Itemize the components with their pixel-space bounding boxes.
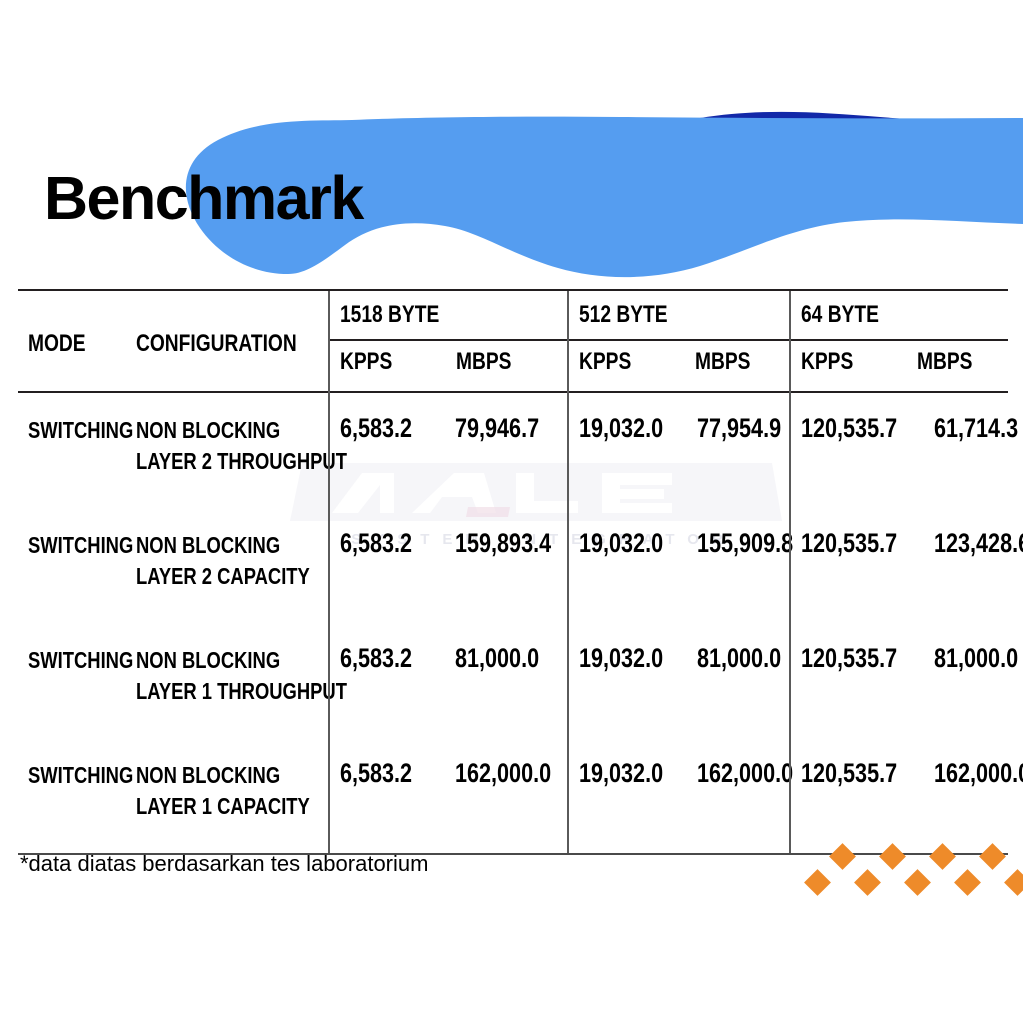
cell-64-mbps: 162,000.0 (934, 758, 1023, 789)
table-row: SWITCHING NON BLOCKING LAYER 1 THROUGHPU… (18, 623, 1008, 738)
footnote-text: *data diatas berdasarkan tes laboratoriu… (20, 851, 428, 877)
cell-64-kpps: 120,535.7 (801, 643, 921, 674)
group-underline (567, 339, 789, 341)
subheader-64-kpps: KPPS (801, 348, 866, 376)
cell-configuration: NON BLOCKING LAYER 2 CAPACITY (136, 530, 353, 591)
cell-64-kpps: 120,535.7 (801, 528, 921, 559)
column-group-1518-byte: 1518 BYTE KPPS MBPS (328, 291, 567, 391)
subheader-512-mbps: MBPS (695, 348, 764, 376)
cell-512-mbps: 77,954.9 (697, 413, 802, 444)
cell-64-mbps: 123,428.6 (934, 528, 1023, 559)
cell-1518-kpps: 6,583.2 (340, 413, 430, 444)
diamond-icon (954, 869, 981, 896)
cell-64-mbps: 81,000.0 (934, 643, 1023, 674)
benchmark-table: MODE CONFIGURATION 1518 BYTE KPPS MBPS 5… (18, 289, 1008, 855)
cell-64-kpps: 120,535.7 (801, 413, 921, 444)
diamond-icon (1004, 869, 1023, 896)
cell-512-kpps: 19,032.0 (579, 758, 684, 789)
group-underline (328, 339, 567, 341)
cell-1518-kpps: 6,583.2 (340, 758, 430, 789)
cell-512-mbps: 155,909.8 (697, 528, 817, 559)
diamond-icon (904, 869, 931, 896)
cell-1518-kpps: 6,583.2 (340, 643, 430, 674)
wave-decoration (0, 0, 1023, 290)
column-header-mode: MODE (28, 330, 100, 358)
column-group-64-byte: 64 BYTE KPPS MBPS (789, 291, 1008, 391)
cell-512-kpps: 19,032.0 (579, 413, 684, 444)
table-row: SWITCHING NON BLOCKING LAYER 1 CAPACITY … (18, 738, 1008, 853)
column-divider-3 (789, 291, 791, 853)
cell-512-mbps: 81,000.0 (697, 643, 802, 674)
cell-1518-mbps: 162,000.0 (455, 758, 575, 789)
cell-1518-mbps: 79,946.7 (455, 413, 560, 444)
subheader-1518-kpps: KPPS (340, 348, 405, 376)
cell-64-mbps: 61,714.3 (934, 413, 1023, 444)
column-divider-2 (567, 291, 569, 853)
diamond-icon (804, 869, 831, 896)
cell-512-kpps: 19,032.0 (579, 528, 684, 559)
subheader-64-mbps: MBPS (917, 348, 986, 376)
group-label-1518-byte: 1518 BYTE (340, 301, 464, 329)
subheader-1518-mbps: MBPS (456, 348, 525, 376)
group-label-64-byte: 64 BYTE (801, 301, 898, 329)
cell-512-kpps: 19,032.0 (579, 643, 684, 674)
cell-1518-kpps: 6,583.2 (340, 528, 430, 559)
column-header-configuration: CONFIGURATION (136, 330, 337, 358)
table-body: SWITCHING NON BLOCKING LAYER 2 THROUGHPU… (18, 393, 1008, 853)
wave-dark-shape (700, 112, 1023, 192)
table-header-row: MODE CONFIGURATION 1518 BYTE KPPS MBPS 5… (18, 291, 1008, 391)
cell-512-mbps: 162,000.0 (697, 758, 817, 789)
cell-1518-mbps: 81,000.0 (455, 643, 560, 674)
cell-configuration: NON BLOCKING LAYER 1 CAPACITY (136, 760, 353, 821)
cell-1518-mbps: 159,893.4 (455, 528, 575, 559)
table-row: SWITCHING NON BLOCKING LAYER 2 THROUGHPU… (18, 393, 1008, 508)
page-title: Benchmark (44, 168, 363, 229)
cell-64-kpps: 120,535.7 (801, 758, 921, 789)
group-underline (789, 339, 1008, 341)
group-label-512-byte: 512 BYTE (579, 301, 690, 329)
table-row: SWITCHING NON BLOCKING LAYER 2 CAPACITY … (18, 508, 1008, 623)
column-group-512-byte: 512 BYTE KPPS MBPS (567, 291, 789, 391)
column-divider-1 (328, 291, 330, 853)
diamond-icon (854, 869, 881, 896)
subheader-512-kpps: KPPS (579, 348, 644, 376)
